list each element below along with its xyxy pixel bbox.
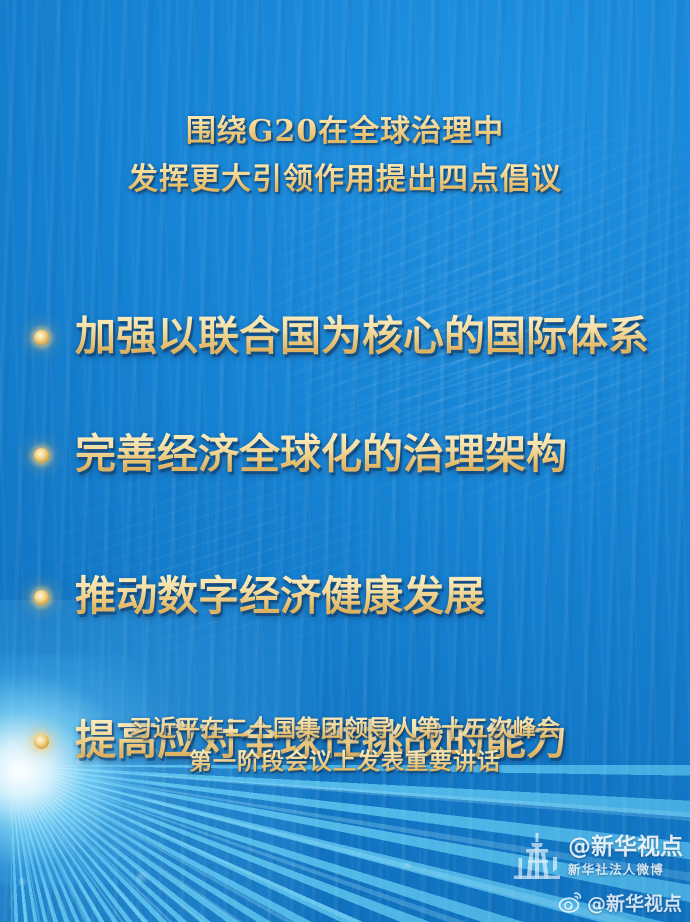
list-item: 推动数字经济健康发展 (0, 560, 690, 634)
xinhua-watermark: @新华视点 新华社法人微博 (512, 826, 684, 886)
corner-watermark-handle: @新华视点 (587, 889, 682, 916)
caption-line-1: 习近平在二十国集团领导人第十五次峰会 (0, 712, 690, 745)
watermark-subtitle: 新华社法人微博 (568, 864, 683, 877)
gold-dot-icon (34, 590, 49, 605)
headline-line-1: 围绕G20在全球治理中 (0, 108, 690, 156)
caption-line-2: 第一阶段会议上发表重要讲话 (0, 745, 690, 778)
xinhua-tower-logo-icon (512, 831, 564, 881)
corner-watermark: @新华视点 (558, 889, 682, 916)
watermark-text-group: @新华视点 新华社法人微博 (568, 836, 683, 877)
headline-line-2: 发挥更大引领作用提出四点倡议 (0, 156, 690, 204)
weibo-icon (558, 890, 583, 915)
bullet-label: 加强以联合国为核心的国际体系 (75, 314, 649, 359)
caption: 习近平在二十国集团领导人第十五次峰会 第一阶段会议上发表重要讲话 (0, 712, 690, 778)
headline: 围绕G20在全球治理中 发挥更大引领作用提出四点倡议 (0, 108, 690, 204)
bullet-list: 加强以联合国为核心的国际体系 完善经济全球化的治理架构 推动数字经济健康发展 提… (0, 300, 690, 596)
bullet-label: 推动数字经济健康发展 (75, 574, 485, 619)
poster-canvas: 围绕G20在全球治理中 发挥更大引领作用提出四点倡议 加强以联合国为核心的国际体… (0, 0, 690, 922)
list-item: 加强以联合国为核心的国际体系 (0, 300, 690, 374)
poster-content: 围绕G20在全球治理中 发挥更大引领作用提出四点倡议 加强以联合国为核心的国际体… (0, 0, 690, 922)
gold-dot-icon (34, 330, 49, 345)
gold-dot-icon (34, 448, 49, 463)
bullet-label: 完善经济全球化的治理架构 (75, 432, 567, 477)
watermark-handle: @新华视点 (568, 836, 683, 859)
list-item: 完善经济全球化的治理架构 (0, 418, 690, 492)
